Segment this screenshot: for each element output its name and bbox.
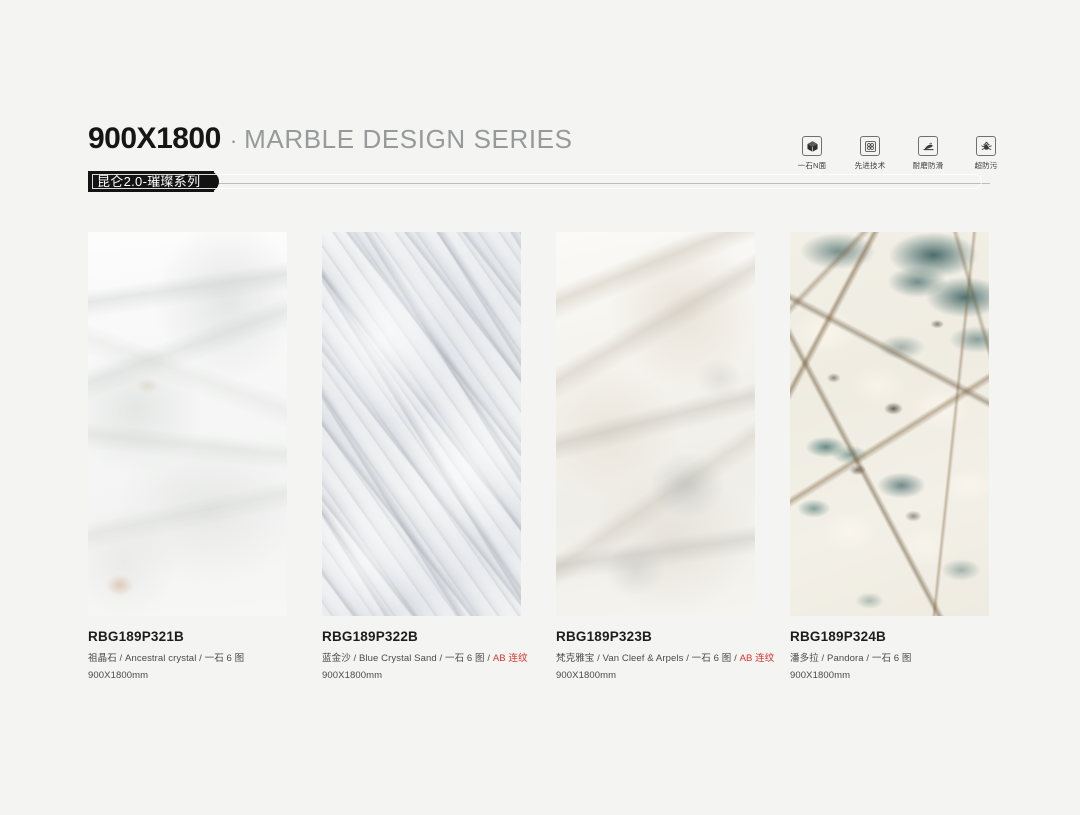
product-description-text: 潘多拉 / Pandora / 一石 6 图 bbox=[790, 653, 912, 664]
series-badge: 昆仑2.0-璀璨系列 bbox=[88, 171, 214, 192]
product-description: 蓝金沙 / Blue Crystal Sand / 一石 6 图 / AB 连纹 bbox=[322, 653, 521, 665]
wear-resistant-anti-slip-icon bbox=[918, 136, 938, 156]
super-stain-resistant-icon bbox=[976, 136, 996, 156]
product-ab-tag: AB 连纹 bbox=[740, 653, 775, 664]
product-description: 梵克雅宝 / Van Cleef & Arpels / 一石 6 图 / AB … bbox=[556, 653, 755, 665]
product-caption: RBG189P324B 潘多拉 / Pandora / 一石 6 图 900X1… bbox=[790, 616, 989, 683]
product-card[interactable]: RBG189P323B 梵克雅宝 / Van Cleef & Arpels / … bbox=[556, 232, 755, 683]
tile-ancestral-crystal[interactable] bbox=[88, 232, 287, 616]
product-card[interactable]: RBG189P324B 潘多拉 / Pandora / 一石 6 图 900X1… bbox=[790, 232, 989, 683]
feature-advanced-technology[interactable]: 先进技术 bbox=[854, 136, 886, 171]
product-description-text: 祖晶石 / Ancestral crystal / 一石 6 图 bbox=[88, 653, 244, 664]
feature-super-stain-resistant[interactable]: 超防污 bbox=[970, 136, 1002, 171]
feature-label: 一石N面 bbox=[798, 160, 827, 171]
product-size: 900X1800mm bbox=[790, 670, 989, 682]
product-card[interactable]: RBG189P321B 祖晶石 / Ancestral crystal / 一石… bbox=[88, 232, 287, 683]
product-size: 900X1800mm bbox=[322, 670, 521, 682]
tile-accents bbox=[556, 232, 755, 616]
product-caption: RBG189P321B 祖晶石 / Ancestral crystal / 一石… bbox=[88, 616, 287, 683]
feature-one-stone-n-faces[interactable]: 一石N面 bbox=[796, 136, 828, 171]
title-separator: · bbox=[230, 130, 237, 152]
product-size: 900X1800mm bbox=[556, 670, 755, 682]
tile-dark-accents bbox=[790, 232, 989, 616]
feature-label: 先进技术 bbox=[855, 160, 886, 171]
feature-icon-list: 一石N面 先进技术 耐磨防滑 bbox=[796, 136, 1002, 171]
product-caption: RBG189P322B 蓝金沙 / Blue Crystal Sand / 一石… bbox=[322, 616, 521, 683]
tile-blue-crystal-sand[interactable] bbox=[322, 232, 521, 616]
product-description: 潘多拉 / Pandora / 一石 6 图 bbox=[790, 653, 989, 665]
product-grid: RBG189P321B 祖晶石 / Ancestral crystal / 一石… bbox=[88, 232, 990, 683]
tile-highlights bbox=[322, 232, 521, 616]
catalog-page: 900X1800 · MARBLE DESIGN SERIES 昆仑2.0-璀璨… bbox=[0, 0, 1080, 815]
header-divider bbox=[88, 183, 990, 184]
product-description-text: 蓝金沙 / Blue Crystal Sand / 一石 6 图 / bbox=[322, 653, 493, 664]
series-badge-outline bbox=[92, 174, 982, 189]
tile-van-cleef-arpels[interactable] bbox=[556, 232, 755, 616]
product-code: RBG189P323B bbox=[556, 630, 755, 645]
product-code: RBG189P322B bbox=[322, 630, 521, 645]
product-code: RBG189P321B bbox=[88, 630, 287, 645]
feature-label: 耐磨防滑 bbox=[913, 160, 944, 171]
tile-accents bbox=[88, 232, 287, 616]
product-size: 900X1800mm bbox=[88, 670, 287, 682]
product-card[interactable]: RBG189P322B 蓝金沙 / Blue Crystal Sand / 一石… bbox=[322, 232, 521, 683]
product-description-text: 梵克雅宝 / Van Cleef & Arpels / 一石 6 图 / bbox=[556, 653, 740, 664]
product-description: 祖晶石 / Ancestral crystal / 一石 6 图 bbox=[88, 653, 287, 665]
feature-wear-resistant-anti-slip[interactable]: 耐磨防滑 bbox=[912, 136, 944, 171]
one-stone-n-faces-icon bbox=[802, 136, 822, 156]
tile-pandora[interactable] bbox=[790, 232, 989, 616]
series-badge-row: 昆仑2.0-璀璨系列 bbox=[88, 171, 990, 192]
feature-label: 超防污 bbox=[974, 160, 997, 171]
product-caption: RBG189P323B 梵克雅宝 / Van Cleef & Arpels / … bbox=[556, 616, 755, 683]
title-series: MARBLE DESIGN SERIES bbox=[244, 126, 572, 152]
product-ab-tag: AB 连纹 bbox=[493, 653, 528, 664]
advanced-technology-icon bbox=[860, 136, 880, 156]
title-size: 900X1800 bbox=[88, 124, 221, 154]
product-code: RBG189P324B bbox=[790, 630, 989, 645]
